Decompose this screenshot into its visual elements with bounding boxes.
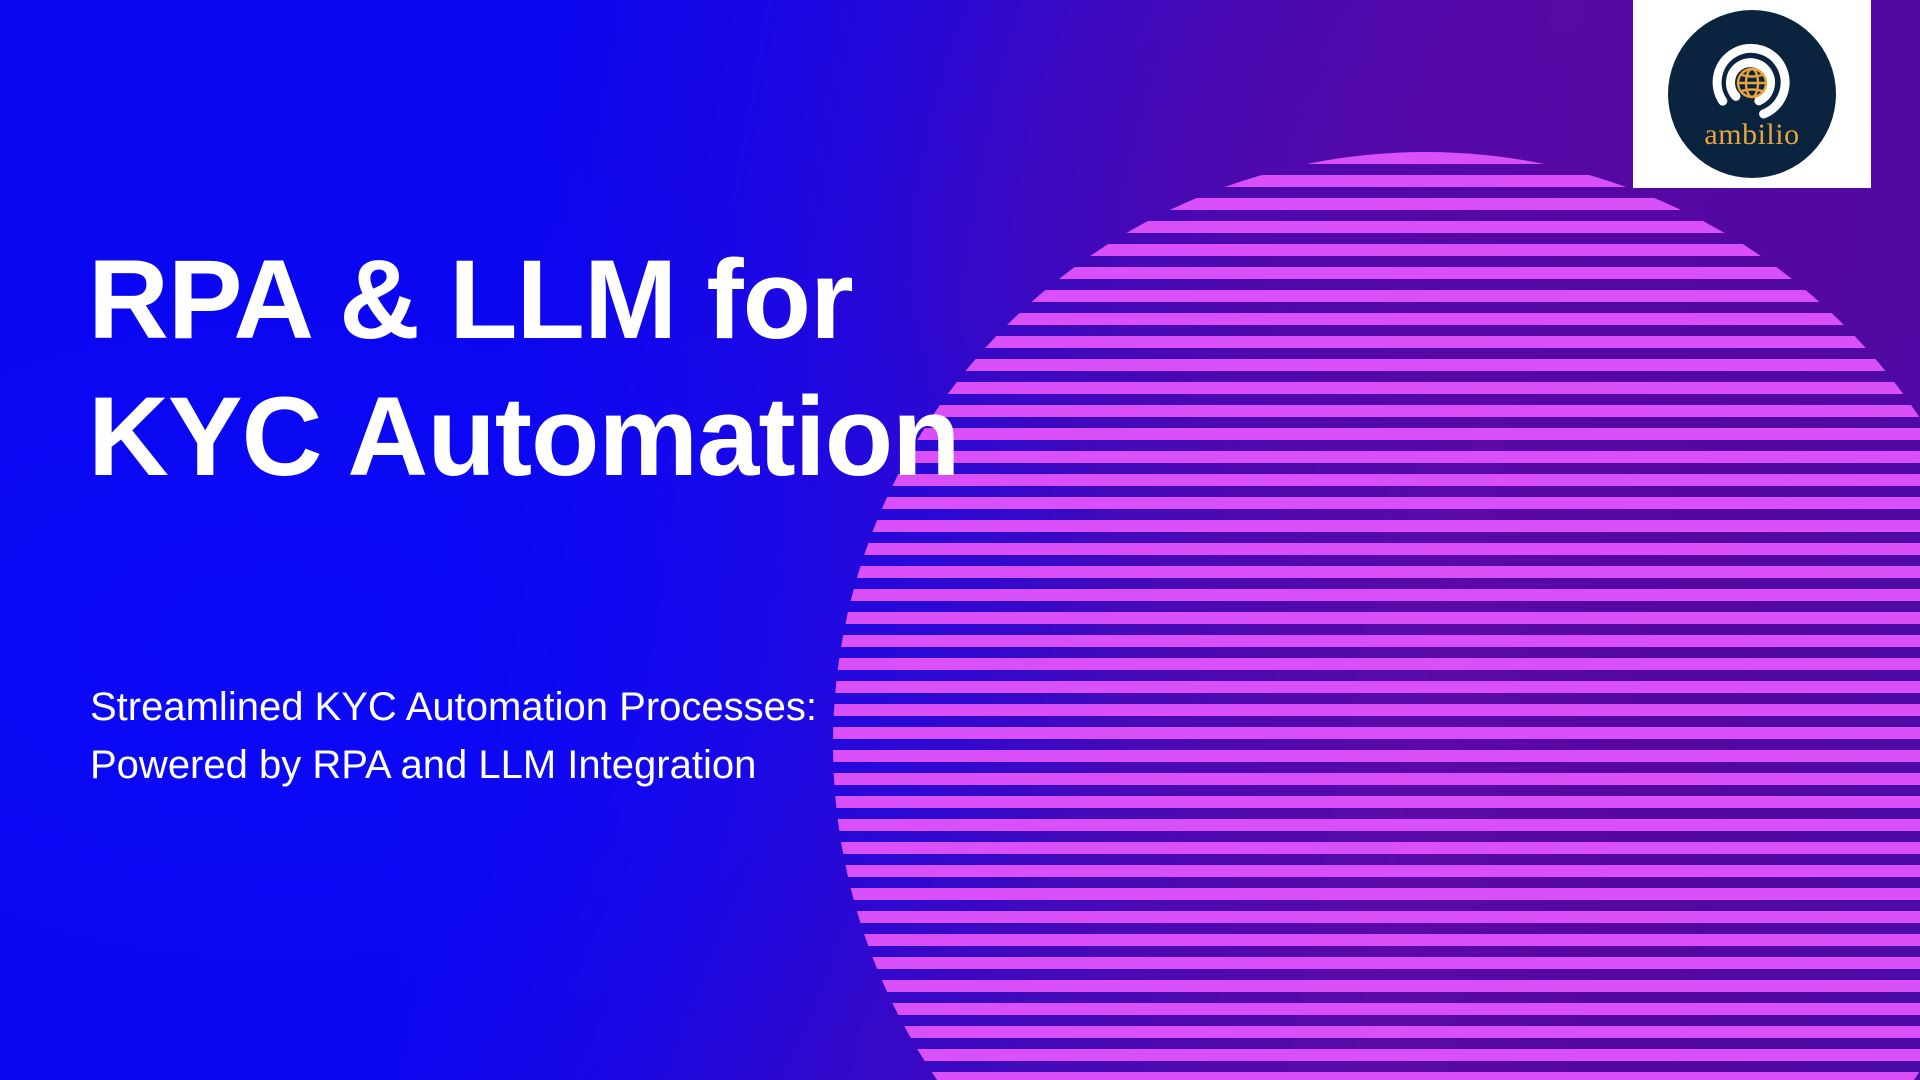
brand-logo-card: ambilio — [1633, 0, 1871, 188]
ambilio-spiral-globe-icon — [1700, 28, 1804, 124]
page-subtitle: Streamlined KYC Automation Processes: Po… — [90, 678, 1090, 795]
presentation-slide: RPA & LLM for KYC Automation Streamlined… — [0, 0, 1920, 1080]
page-title: RPA & LLM for KYC Automation — [88, 232, 1088, 505]
brand-logo-disc: ambilio — [1668, 10, 1836, 178]
brand-wordmark: ambilio — [1704, 120, 1799, 150]
